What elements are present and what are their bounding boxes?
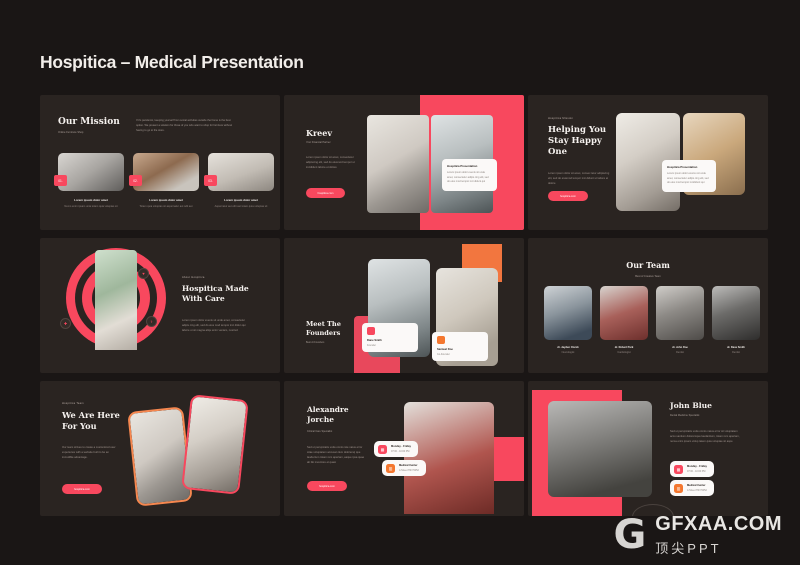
slide7-title: We Are Here For You <box>62 410 120 432</box>
slide1-card-badge: 03. <box>204 175 217 186</box>
medical-icon: ⚕ <box>146 316 157 327</box>
slide1-card[interactable]: 02. Lorem ipsum dolor amet Totam quia vo… <box>133 153 199 210</box>
slide1-card-image: 03. <box>208 153 274 191</box>
slide5-title: Meet The Founders <box>306 320 354 337</box>
slide1-card-body: Nemo enim ipsam unta totam quia voluptas… <box>58 205 124 210</box>
team-member-name: dr. Jayden Clarck <box>544 346 592 349</box>
slide7-cta-button[interactable]: hospitica.com <box>62 484 102 494</box>
team-member-role: Dentist <box>712 351 760 354</box>
building-icon: ▥ <box>386 464 395 473</box>
slide1-card-badge: 01. <box>54 175 67 186</box>
slide-john-blue[interactable]: John Blue Dental Medicine Specialist Sed… <box>528 381 768 516</box>
slide1-title: Our Mission <box>58 117 120 127</box>
slide3-cta-button[interactable]: hospitica.com <box>548 191 588 201</box>
slide7-text-block: Hospitica Team We Are Here For You Our t… <box>62 402 120 460</box>
slide1-card-list: 01. Lorem ipsum dolor amet Nemo enim ips… <box>58 153 274 210</box>
slide6-subtitle: Best of Creative Team <box>528 275 768 278</box>
slide8-chip-sub: 07:00 - 10:00 PM <box>391 450 411 453</box>
team-member-name: dr. Robert Park <box>600 346 648 349</box>
slide-grid: Our Mission Online Furniture Shop If it'… <box>40 95 768 516</box>
slide9-chip-title: Medical Center <box>687 484 707 487</box>
slide8-text-block: Alexandre Jorche Critical Care Specialis… <box>307 405 367 465</box>
slide-our-mission[interactable]: Our Mission Online Furniture Shop If it'… <box>40 95 280 230</box>
slide9-chip-sub: A Street Hill 76452 <box>687 489 707 492</box>
calendar-icon: ▦ <box>674 465 683 474</box>
slide8-chip-title: Medical Center <box>399 464 419 467</box>
slide1-header: Our Mission Online Furniture Shop <box>58 117 120 134</box>
slide-meet-founders[interactable]: Meet The Founders Best At Founders Dane … <box>284 238 524 373</box>
slide2-cta-button[interactable]: hospitica.com <box>306 188 345 198</box>
slide8-cta-button[interactable]: hospitica.com <box>307 481 347 491</box>
slide8-title: Alexandre Jorche <box>307 405 367 425</box>
slide7-photo-frame-right <box>181 394 249 495</box>
slide1-card-body: Aspernatur aut odit aut totam quia volup… <box>208 205 274 210</box>
slide5-text-block: Meet The Founders Best At Founders <box>306 320 354 344</box>
gfxaa-logo-icon: G <box>613 516 646 554</box>
team-member-role: Cardiologist <box>600 351 648 354</box>
slide-alexandre-jorche[interactable]: Alexandre Jorche Critical Care Specialis… <box>284 381 524 516</box>
slide3-text-block: Hospitica Mission Helping You Stay Happy… <box>548 117 610 186</box>
slide9-schedule-chip[interactable]: ▦ Monday - Friday 07:00 - 10:00 PM <box>670 461 714 477</box>
slide1-lead-text: If it's pandemic, keeping yourself from … <box>136 119 236 134</box>
slide3-info-card: Hospitica Presentation Lorem ipsum dolor… <box>662 160 716 192</box>
team-member-card[interactable]: dr. Robert Park Cardiologist <box>600 286 648 354</box>
slide1-card-title: Lorem ipsum dolor amet <box>133 198 199 202</box>
slide-our-team[interactable]: Our Team Best of Creative Team dr. Jayde… <box>528 238 768 373</box>
badge-icon <box>367 327 375 335</box>
slide2-text-block: Kreev Your Financial Partner Lorem ipsum… <box>306 128 366 170</box>
team-member-name: dr. John Doe <box>656 346 704 349</box>
slide1-subtitle: Online Furniture Shop <box>58 131 120 134</box>
team-member-photo <box>600 286 648 340</box>
slide5-person-role: Founder <box>367 344 413 347</box>
slide8-chip-title: Monday - Friday <box>391 445 411 448</box>
slide7-body: Our team strives to create a customized … <box>62 445 120 460</box>
slide3-card-title: Hospitica Presentation <box>667 165 711 169</box>
watermark-site: GFXAA.COM <box>655 513 782 536</box>
slide4-text-block: About Hospitica Hospitica Made With Care… <box>182 276 252 333</box>
calendar-icon: ▦ <box>378 445 387 454</box>
slide7-photo-frame-left <box>127 406 193 506</box>
team-member-photo <box>656 286 704 340</box>
slide1-card-badge: 02. <box>129 175 142 186</box>
slide3-card-body: Lorem ipsum dolor eiusmo sit unde amet, … <box>667 172 711 186</box>
slide1-card-title: Lorem ipsum dolor amet <box>208 198 274 202</box>
slide5-subtitle: Best At Founders <box>306 341 354 344</box>
slide3-eyebrow: Hospitica Mission <box>548 117 610 120</box>
slide5-person-name: Dane Smith <box>367 339 413 342</box>
slide1-card-image: 01. <box>58 153 124 191</box>
slide1-card-body: Totam quia voluptas sit aspernatur aut o… <box>133 205 199 210</box>
team-member-photo <box>712 286 760 340</box>
slide1-card-image: 02. <box>133 153 199 191</box>
slide9-chip-sub: 07:00 - 10:00 PM <box>687 470 707 473</box>
slide9-portrait <box>548 401 652 497</box>
team-member-name: dr. Dave Smith <box>712 346 760 349</box>
badge-icon <box>437 336 445 344</box>
team-member-role: Dentist <box>656 351 704 354</box>
slide2-image-left <box>367 115 429 213</box>
slide9-title: John Blue <box>670 401 744 410</box>
slide4-body: Lorem ipsum dolor evenis sit unde amet, … <box>182 318 252 333</box>
slide2-title: Kreev <box>306 128 366 138</box>
slide1-card[interactable]: 03. Lorem ipsum dolor amet Aspernatur au… <box>208 153 274 210</box>
slide5-person-card[interactable]: Samwel Doe Co-Founder <box>432 332 488 361</box>
slide2-info-card: Hospitica Presentation Lorem ipsum dolor… <box>442 159 497 191</box>
page-title: Hospitica – Medical Presentation <box>40 52 304 73</box>
slide8-location-chip[interactable]: ▥ Medical Center A Street Hill 76452 <box>382 460 426 476</box>
slide7-eyebrow: Hospitica Team <box>62 402 120 405</box>
slide9-chip-title: Monday - Friday <box>687 465 707 468</box>
slide1-card[interactable]: 01. Lorem ipsum dolor amet Nemo enim ips… <box>58 153 124 210</box>
slide4-eyebrow: About Hospitica <box>182 276 252 279</box>
slide2-body: Lorem ipsum dolor sit amet, consectetur … <box>306 155 366 170</box>
slide-here-for-you[interactable]: Hospitica Team We Are Here For You Our t… <box>40 381 280 516</box>
cross-icon: ✚ <box>60 318 71 329</box>
slide5-person-role: Co-Founder <box>437 353 483 356</box>
slide8-portrait <box>404 402 494 514</box>
slide8-chip-sub: A Street Hill 76452 <box>399 469 419 472</box>
slide4-title: Hospitica Made With Care <box>182 284 252 305</box>
slide-kreev[interactable]: Kreev Your Financial Partner Lorem ipsum… <box>284 95 524 230</box>
slide9-location-chip[interactable]: ▥ Medical Center A Street Hill 76452 <box>670 480 714 496</box>
team-member-card[interactable]: dr. Jayden Clarck Neurologist <box>544 286 592 354</box>
team-member-card[interactable]: dr. Dave Smith Dentist <box>712 286 760 354</box>
watermark: G GFXAA.COM 顶尖PPT <box>613 513 782 557</box>
watermark-tagline: 顶尖PPT <box>655 538 782 557</box>
team-member-photo <box>544 286 592 340</box>
slide9-body: Sed ut perspiciatis unde omnis natus err… <box>670 429 744 444</box>
slide5-person-name: Samwel Doe <box>437 348 483 351</box>
slide3-title: Helping You Stay Happy One <box>548 125 610 159</box>
team-member-card[interactable]: dr. John Doe Dentist <box>656 286 704 354</box>
slide8-subtitle: Critical Care Specialist <box>307 430 367 433</box>
team-member-role: Neurologist <box>544 351 592 354</box>
slide9-text-block: John Blue Dental Medicine Specialist Sed… <box>670 401 744 444</box>
slide5-person-card[interactable]: Dane Smith Founder <box>362 323 418 352</box>
presentation-preview-page: Hospitica – Medical Presentation Our Mis… <box>0 0 800 565</box>
slide6-title: Our Team <box>528 260 768 270</box>
slide-made-with-care[interactable]: ♥ ✚ ⚕ About Hospitica Hospitica Made Wit… <box>40 238 280 373</box>
slide2-card-body: Lorem ipsum dolor evenis sit unde amet, … <box>447 171 492 185</box>
slide2-card-title: Hospitica Presentation <box>447 164 492 168</box>
slide4-doctor-image <box>95 250 137 350</box>
slide6-member-list: dr. Jayden Clarck Neurologist dr. Robert… <box>544 286 760 354</box>
building-icon: ▥ <box>674 484 683 493</box>
slide3-body: Lorem ipsum dolor sit amet, consec tetur… <box>548 171 610 186</box>
slide8-body: Sed ut perspiciatis unde omnis iste natu… <box>307 445 367 465</box>
slide8-schedule-chip[interactable]: ▦ Monday - Friday 07:00 - 10:00 PM <box>374 441 418 457</box>
heart-icon: ♥ <box>138 268 149 279</box>
slide9-subtitle: Dental Medicine Specialist <box>670 414 744 417</box>
slide1-card-title: Lorem ipsum dolor amet <box>58 198 124 202</box>
slide2-subtitle: Your Financial Partner <box>306 141 366 144</box>
slide-helping-you[interactable]: Hospitica Mission Helping You Stay Happy… <box>528 95 768 230</box>
